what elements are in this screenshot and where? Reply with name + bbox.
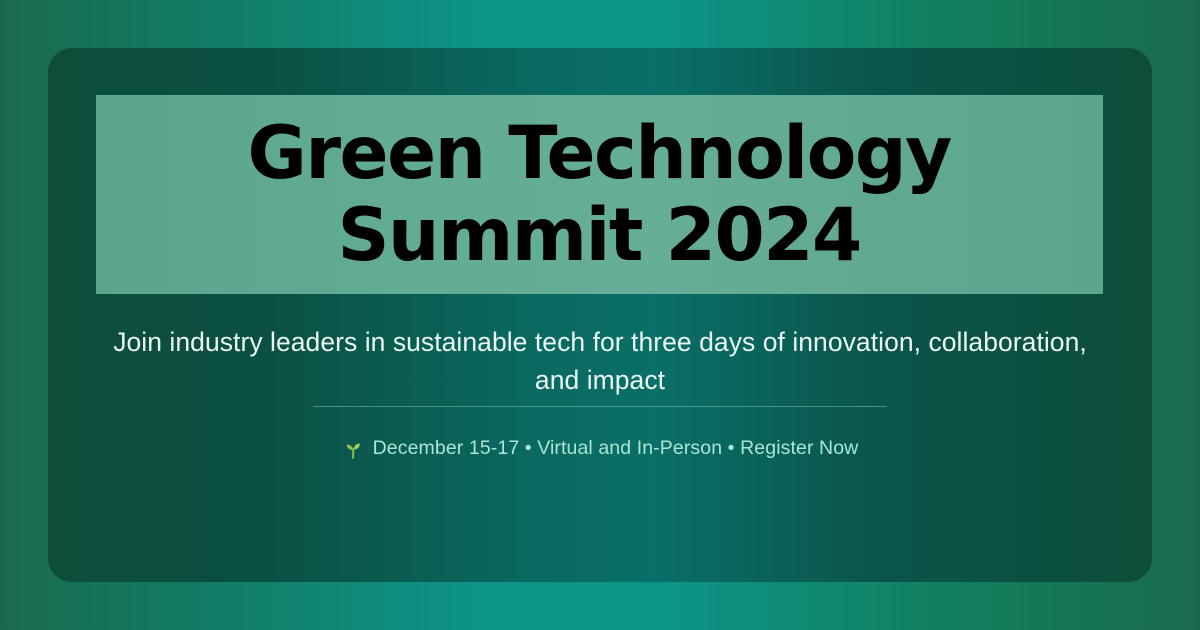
sprout-icon — [342, 438, 364, 460]
title-banner: Green Technology Summit 2024 — [96, 95, 1103, 294]
hero-card: Green Technology Summit 2024 Join indust… — [48, 48, 1152, 582]
event-meta-row: December 15-17 • Virtual and In-Person •… — [48, 434, 1152, 462]
hero-subtitle: Join industry leaders in sustainable tec… — [48, 323, 1152, 399]
page-title: Green Technology Summit 2024 — [248, 113, 951, 277]
event-meta-text: December 15-17 • Virtual and In-Person •… — [373, 434, 859, 462]
divider — [313, 406, 887, 407]
